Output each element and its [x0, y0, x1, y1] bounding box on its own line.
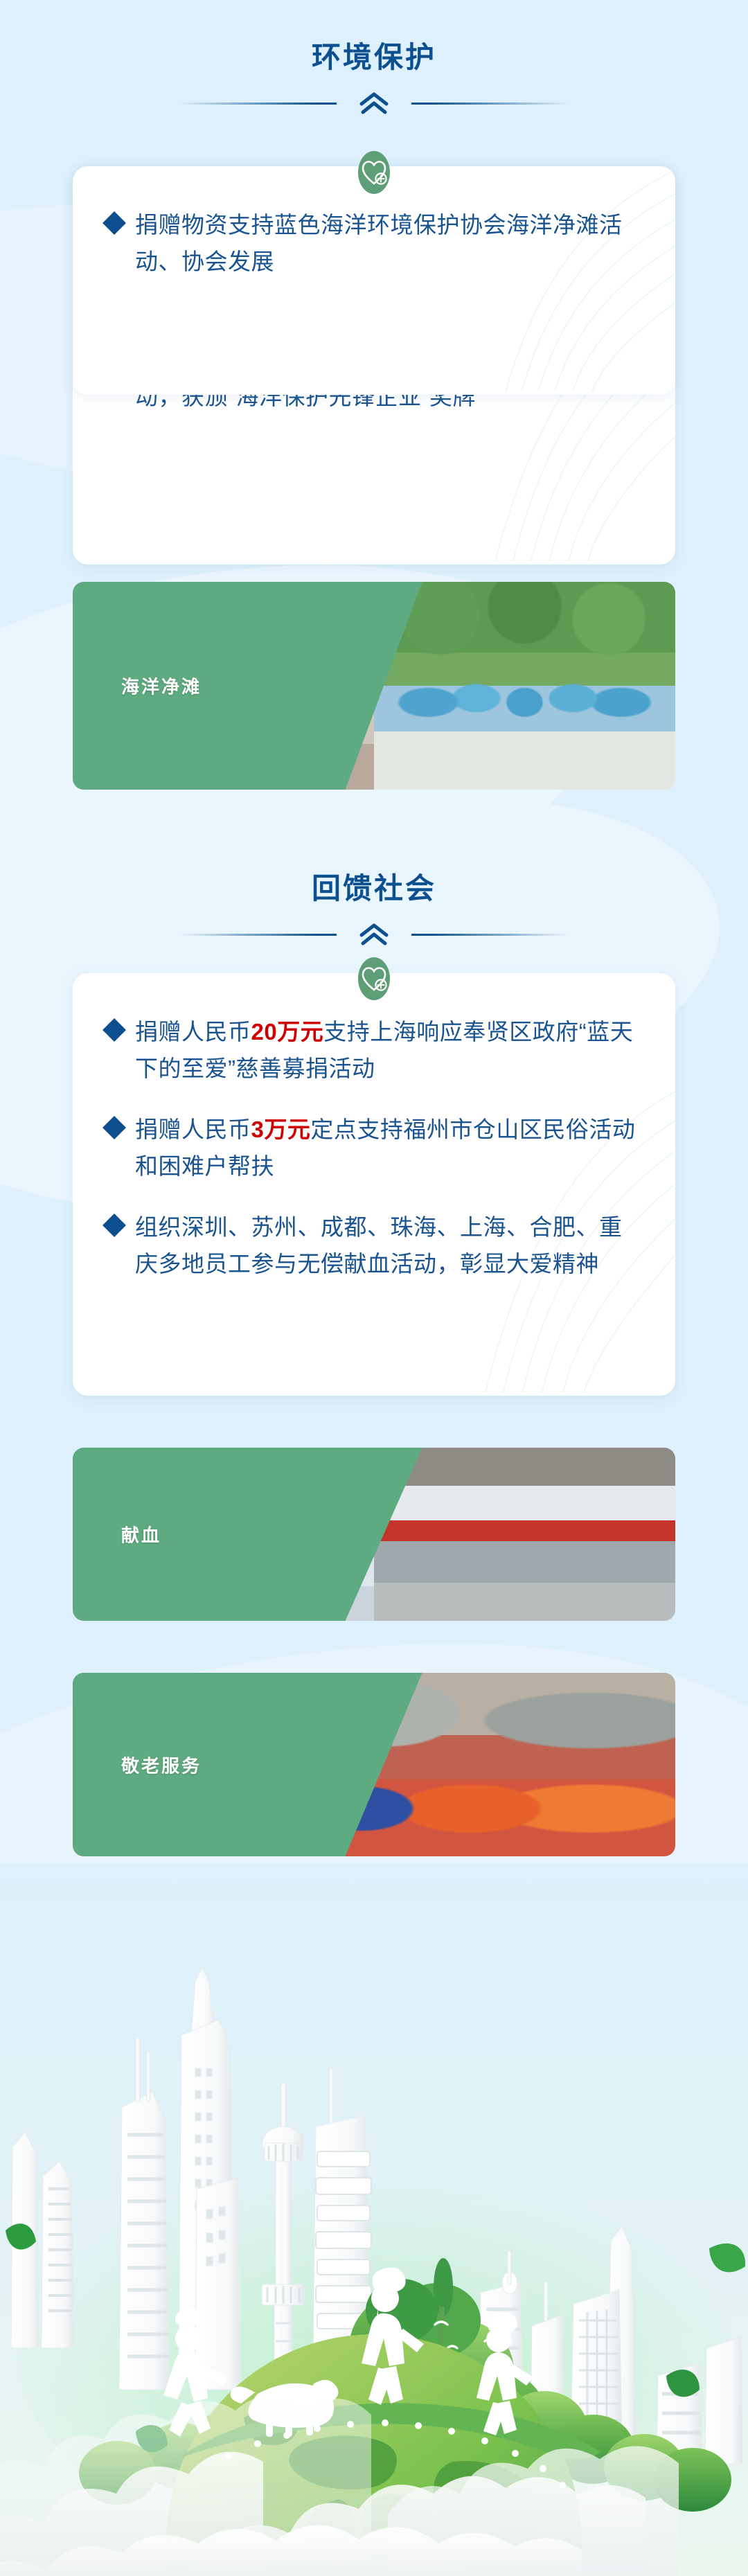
bullet-amount-highlight: 20万元 [251, 1019, 324, 1045]
section-header-society: 回馈社会 [0, 873, 748, 946]
bullet-text-prefix: 捐赠人民币 [135, 1019, 251, 1045]
list-item: 组织深圳、苏州、成都、珠海、上海、合肥、重庆多地员工参与无偿献血活动，彰显大爱精… [106, 1209, 639, 1283]
bullet-text: 捐赠人民币20万元支持上海响应奉贤区政府“蓝天下的至爱”慈善募捐活动 [135, 1013, 639, 1087]
list-item: 捐赠人民币3万元定点支持福州市仓山区民俗活动和困难户帮扶 [106, 1111, 639, 1185]
photo-band-blood-donation: 献血 [73, 1448, 675, 1621]
heart-charity-icon [358, 151, 390, 194]
bullet-text: 捐赠物资支持蓝色海洋环境保护协会海洋净滩活动、协会发展 [135, 206, 639, 281]
chevron-up-icon [355, 91, 393, 118]
photo-label: 海洋净滩 [121, 673, 202, 699]
photo-blood-donation-bus-group [374, 1448, 675, 1621]
divider-rule-right [411, 103, 568, 105]
section-header-environment: 环境保护 [0, 42, 748, 115]
bullet-text: 组织深圳、苏州、成都、珠海、上海、合肥、重庆多地员工参与无偿献血活动，彰显大爱精… [135, 1209, 639, 1283]
photo-beach-cleanup-group [374, 582, 675, 790]
bullet-text-prefix: 捐赠人民币 [135, 1117, 251, 1142]
green-city-earth-illustration [0, 1863, 748, 2576]
photo-label: 敬老服务 [121, 1752, 202, 1777]
content-card-society: 捐赠人民币20万元支持上海响应奉贤区政府“蓝天下的至爱”慈善募捐活动 捐赠人民币… [73, 973, 675, 1396]
divider-rule-left [180, 103, 337, 105]
content-card-environment: 捐赠物资支持蓝色海洋环境保护协会海洋净滩活动、协会发展 [73, 166, 675, 395]
chevron-up-icon [355, 923, 393, 950]
page-title: 环境保护 [0, 42, 748, 73]
list-item: 捐赠人民币20万元支持上海响应奉贤区政府“蓝天下的至爱”慈善募捐活动 [106, 1013, 639, 1087]
page-title: 回馈社会 [0, 873, 748, 905]
diamond-bullet-icon [103, 1214, 126, 1237]
photo-band-elderly-service: 敬老服务 [73, 1673, 675, 1856]
divider-rule-left [180, 934, 337, 936]
diamond-bullet-icon [103, 211, 126, 235]
list-item: 捐赠物资支持蓝色海洋环境保护协会海洋净滩活动、协会发展 [106, 206, 639, 281]
bullet-text: 捐赠人民币3万元定点支持福州市仓山区民俗活动和困难户帮扶 [135, 1111, 639, 1185]
diamond-bullet-icon [103, 1116, 126, 1139]
photo-label: 献血 [121, 1522, 161, 1547]
title-divider [180, 91, 568, 115]
title-divider [180, 923, 568, 946]
heart-charity-icon [358, 957, 390, 1000]
bullet-amount-highlight: 3万元 [251, 1117, 311, 1142]
photo-band-ocean-cleanup: 海洋净滩 [73, 582, 675, 790]
divider-rule-right [411, 934, 568, 936]
diamond-bullet-icon [103, 1018, 126, 1042]
